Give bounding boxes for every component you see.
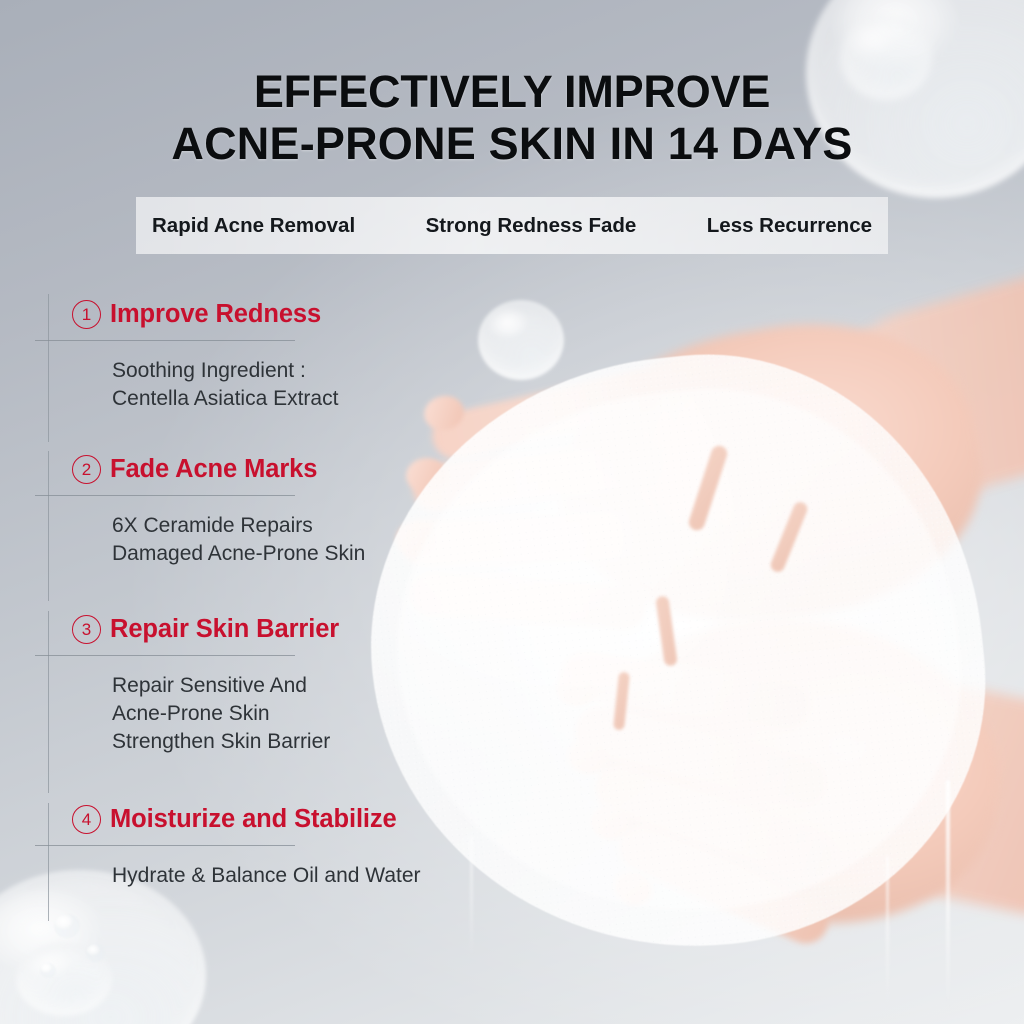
feature-number-3: 3 [72, 615, 101, 644]
feature-body-4-line-1: Hydrate & Balance Oil and Water [112, 862, 470, 890]
feature-heading-2: 2 Fade Acne Marks [0, 455, 470, 484]
page-title: EFFECTIVELY IMPROVE ACNE-PRONE SKIN IN 1… [0, 66, 1024, 170]
feature-title-1: Improve Redness [110, 300, 321, 329]
headline-line-1: EFFECTIVELY IMPROVE [254, 66, 770, 117]
benefit-tag-strong-redness-fade: Strong Redness Fade [426, 214, 637, 238]
benefit-tag-rapid-acne-removal: Rapid Acne Removal [152, 214, 355, 238]
feature-title-4: Moisturize and Stabilize [110, 805, 397, 834]
feature-number-1: 1 [72, 300, 101, 329]
feature-body-3-line-3: Strengthen Skin Barrier [112, 728, 470, 756]
feature-divider-3 [35, 655, 295, 656]
feature-title-2: Fade Acne Marks [110, 455, 317, 484]
feature-rail-3 [48, 611, 49, 793]
feature-list: 1 Improve Redness Soothing Ingredient : … [0, 300, 470, 945]
feature-body-2-line-1: 6X Ceramide Repairs [112, 512, 470, 540]
feature-body-2: 6X Ceramide Repairs Damaged Acne-Prone S… [0, 512, 470, 568]
feature-body-2-line-2: Damaged Acne-Prone Skin [112, 540, 470, 568]
feature-divider-1 [35, 340, 295, 341]
feature-rail-1 [48, 294, 49, 442]
feature-item-improve-redness: 1 Improve Redness Soothing Ingredient : … [0, 300, 470, 455]
feature-heading-4: 4 Moisturize and Stabilize [0, 805, 470, 834]
feature-rail-4 [48, 803, 49, 921]
feature-item-moisturize-and-stabilize: 4 Moisturize and Stabilize Hydrate & Bal… [0, 805, 470, 945]
feature-number-4: 4 [72, 805, 101, 834]
feature-divider-2 [35, 495, 295, 496]
feature-item-fade-acne-marks: 2 Fade Acne Marks 6X Ceramide Repairs Da… [0, 455, 470, 615]
feature-divider-4 [35, 845, 295, 846]
feature-body-3-line-2: Acne-Prone Skin [112, 700, 470, 728]
feature-body-1: Soothing Ingredient : Centella Asiatica … [0, 357, 470, 413]
feature-item-repair-skin-barrier: 3 Repair Skin Barrier Repair Sensitive A… [0, 615, 470, 805]
benefit-bar: Rapid Acne Removal Strong Redness Fade L… [136, 197, 888, 254]
feature-number-2: 2 [72, 455, 101, 484]
feature-body-3-line-1: Repair Sensitive And [112, 672, 470, 700]
feature-body-3: Repair Sensitive And Acne-Prone Skin Str… [0, 672, 470, 756]
feature-title-3: Repair Skin Barrier [110, 615, 339, 644]
product-infographic-poster: EFFECTIVELY IMPROVE ACNE-PRONE SKIN IN 1… [0, 0, 1024, 1024]
benefit-tag-less-recurrence: Less Recurrence [707, 214, 872, 238]
feature-body-4: Hydrate & Balance Oil and Water [0, 862, 470, 890]
feature-body-1-line-2: Centella Asiatica Extract [112, 385, 470, 413]
feature-heading-1: 1 Improve Redness [0, 300, 470, 329]
feature-rail-2 [48, 451, 49, 601]
poster-content: EFFECTIVELY IMPROVE ACNE-PRONE SKIN IN 1… [0, 0, 1024, 1024]
headline-line-2: ACNE-PRONE SKIN IN 14 DAYS [0, 118, 1024, 170]
feature-body-1-line-1: Soothing Ingredient : [112, 357, 470, 385]
feature-heading-3: 3 Repair Skin Barrier [0, 615, 470, 644]
